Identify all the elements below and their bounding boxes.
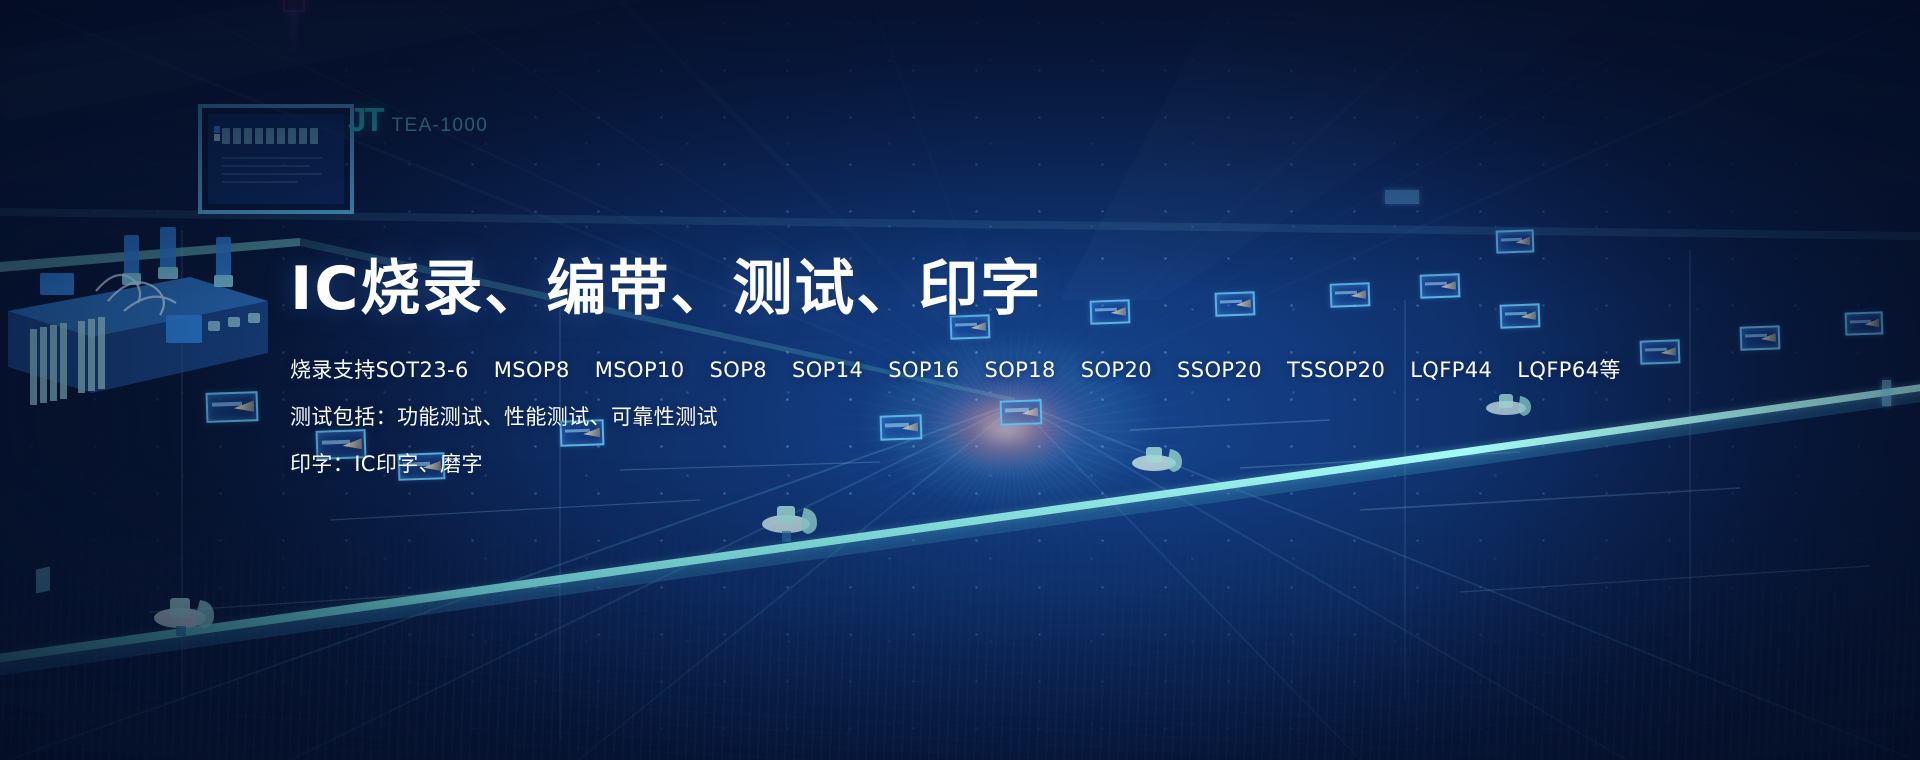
hero-banner: JT TEA-1000 IC烧录、编带、测试、印字 烧录支持SOT23-6 MS… — [0, 0, 1920, 760]
package-lqfp64: LQFP64 — [1517, 358, 1599, 382]
package-lqfp44: LQFP44 — [1410, 358, 1492, 382]
package-msop8: MSOP8 — [494, 358, 570, 382]
burn-support-line: 烧录支持SOT23-6 MSOP8 MSOP10 SOP8 SOP14 SOP1… — [290, 354, 1590, 384]
test-scope-line: 测试包括：功能测试、性能测试、可靠性测试 — [290, 401, 1590, 431]
burn-support-tail: 等 — [1599, 354, 1620, 384]
package-sop16: SOP16 — [888, 358, 959, 382]
hero-content: IC烧录、编带、测试、印字 烧录支持SOT23-6 MSOP8 MSOP10 S… — [290, 255, 1590, 478]
package-sop8: SOP8 — [710, 358, 767, 382]
package-tssop20: TSSOP20 — [1287, 358, 1385, 382]
package-sop20: SOP20 — [1081, 358, 1152, 382]
package-ssop20: SSOP20 — [1177, 358, 1262, 382]
package-sop18: SOP18 — [985, 358, 1056, 382]
printing-scope-line: 印字：IC印字、磨字 — [290, 448, 1590, 478]
package-sop14: SOP14 — [792, 358, 863, 382]
package-msop10: MSOP10 — [595, 358, 685, 382]
burn-support-lead: 烧录支持SOT23-6 — [290, 354, 469, 384]
page-title: IC烧录、编带、测试、印字 — [290, 255, 1590, 324]
